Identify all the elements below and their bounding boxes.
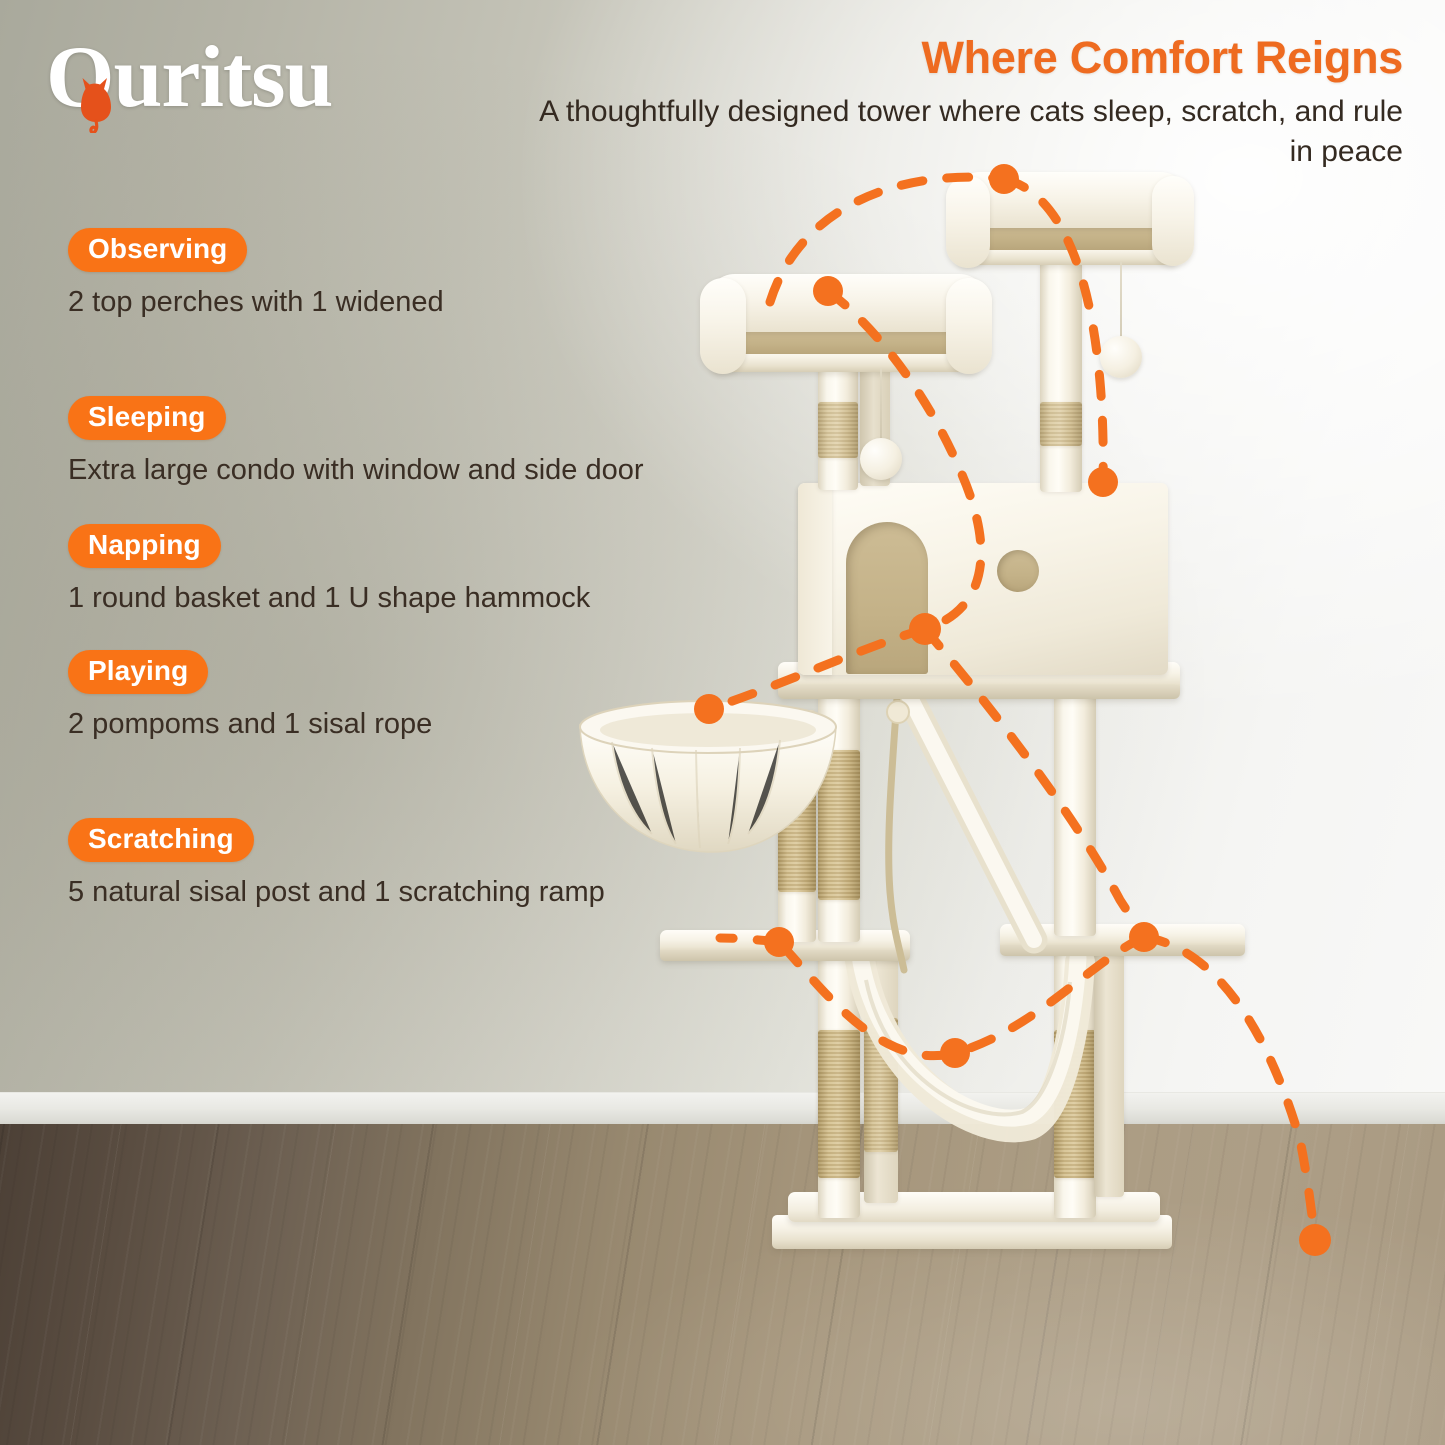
- page-title: Where Comfort Reigns: [503, 30, 1403, 86]
- feature-item-playing: Playing 2 pompoms and 1 sisal rope: [68, 650, 728, 744]
- page-subtitle: A thoughtfully designed tower where cats…: [523, 92, 1403, 172]
- feature-badge-playing: Playing: [68, 650, 208, 694]
- feature-description-sleeping: Extra large condo with window and side d…: [68, 450, 688, 490]
- feature-description-observing: 2 top perches with 1 widened: [68, 282, 688, 322]
- feature-list: Observing 2 top perches with 1 widened S…: [68, 228, 728, 938]
- feature-badge-observing: Observing: [68, 228, 247, 272]
- feature-badge-napping: Napping: [68, 524, 221, 568]
- feature-item-napping: Napping 1 round basket and 1 U shape ham…: [68, 524, 728, 618]
- cat-silhouette-icon: [76, 71, 116, 133]
- brand-logo: Ouritsu: [46, 28, 446, 128]
- feature-item-scratching: Scratching 5 natural sisal post and 1 sc…: [68, 818, 728, 912]
- feature-item-observing: Observing 2 top perches with 1 widened: [68, 228, 728, 322]
- feature-description-scratching: 5 natural sisal post and 1 scratching ra…: [68, 872, 688, 912]
- infographic-canvas: Ouritsu Where Comfort Reigns A thoughtfu…: [0, 0, 1445, 1445]
- feature-item-sleeping: Sleeping Extra large condo with window a…: [68, 396, 728, 490]
- feature-badge-scratching: Scratching: [68, 818, 254, 862]
- feature-description-playing: 2 pompoms and 1 sisal rope: [68, 704, 688, 744]
- feature-badge-sleeping: Sleeping: [68, 396, 226, 440]
- feature-description-napping: 1 round basket and 1 U shape hammock: [68, 578, 688, 618]
